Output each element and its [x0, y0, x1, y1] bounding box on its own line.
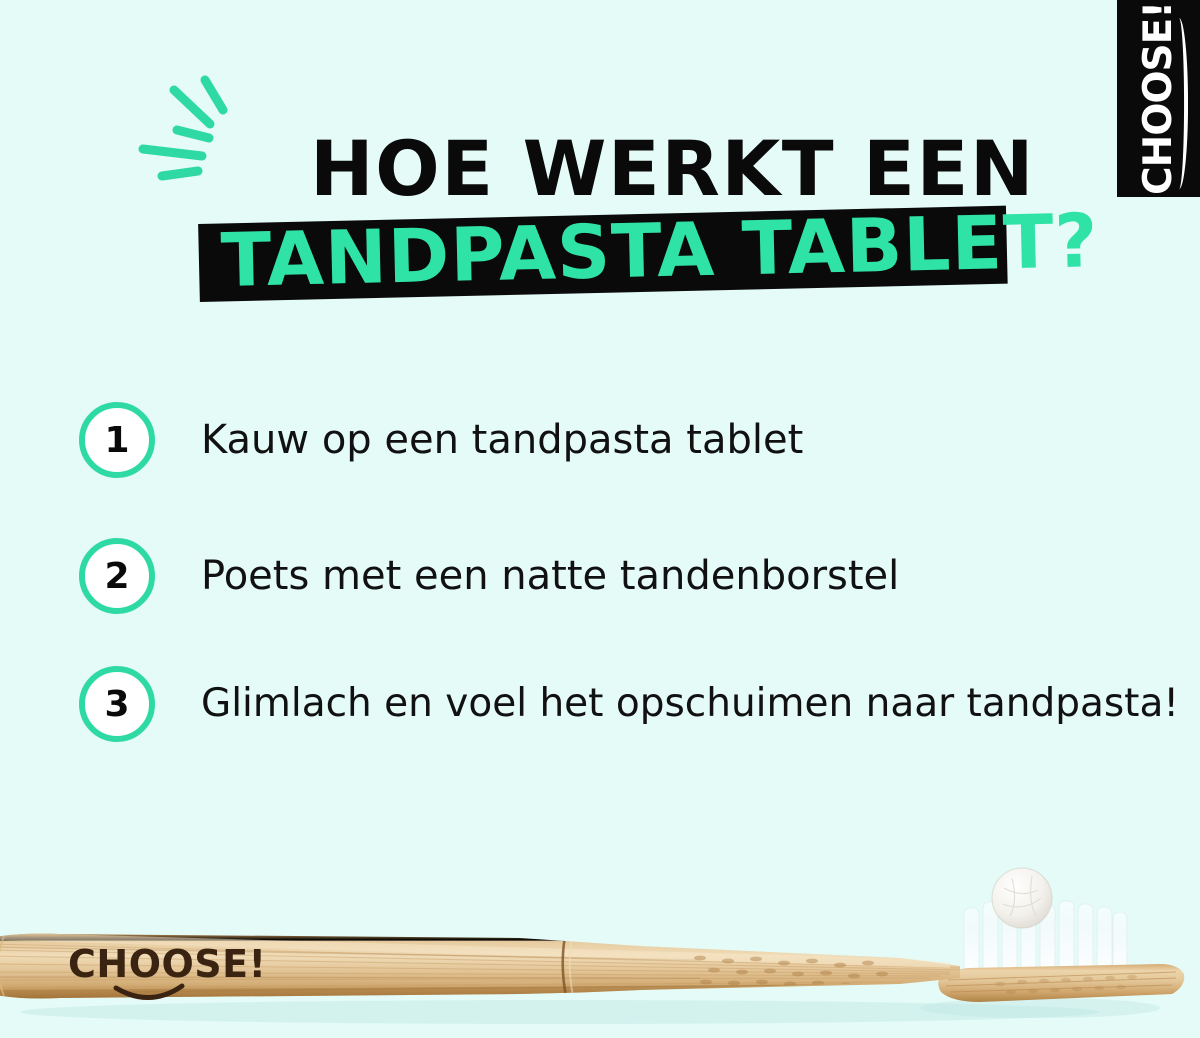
- logo-wordmark: CHOOSE!: [1139, 2, 1178, 195]
- page-title-line-2-highlight: TANDPASTA TABLET?: [198, 206, 1008, 302]
- toothpaste-tablet: [992, 868, 1052, 928]
- logo-rotation-wrapper: CHOOSE!: [1139, 2, 1178, 195]
- step-number-badge-1: 1: [79, 402, 155, 478]
- step-label-3: Glimlach en voel het opschuimen naar tan…: [201, 683, 1179, 726]
- svg-text:CHOOSE!: CHOOSE!: [68, 942, 266, 986]
- choose-logo-badge[interactable]: CHOOSE!: [1117, 0, 1200, 197]
- page-title-line-2: TANDPASTA TABLET?: [220, 204, 1099, 298]
- logo-smile-icon: [1170, 18, 1188, 189]
- step-label-1: Kauw op een tandpasta tablet: [201, 418, 803, 462]
- brush-head: [938, 964, 1184, 1002]
- list-item-step-1: 1 Kauw op een tandpasta tablet: [79, 402, 803, 478]
- page-title-line-1: HOE WERKT EEN: [310, 131, 1035, 207]
- list-item-step-2: 2 Poets met een natte tandenborstel: [79, 538, 899, 614]
- sparkle-burst-icon: [126, 66, 246, 188]
- poster-canvas: HOE WERKT EEN TANDPASTA TABLET? 1 Kauw o…: [0, 0, 1200, 1038]
- step-number-badge-3: 3: [79, 666, 155, 742]
- step-number-badge-2: 2: [79, 538, 155, 614]
- bamboo-toothbrush: CHOOSE!: [0, 860, 1200, 1038]
- step-label-2: Poets met een natte tandenborstel: [201, 554, 899, 598]
- list-item-step-3: 3 Glimlach en voel het opschuimen naar t…: [79, 666, 1179, 742]
